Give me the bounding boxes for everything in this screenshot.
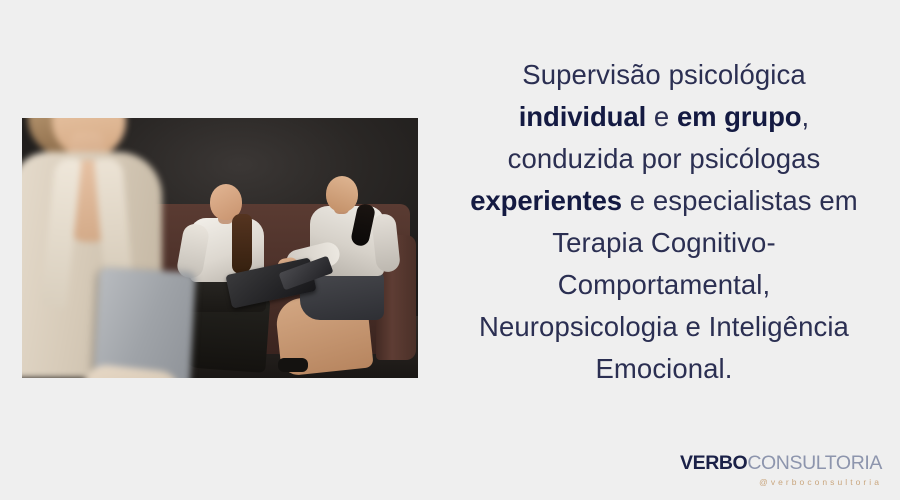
logo-word-primary: VERBO <box>680 452 747 474</box>
photo-shoe <box>278 358 308 372</box>
body-copy-line: individual e em grupo, <box>438 96 890 138</box>
photo-arm-right <box>371 213 401 273</box>
photo-backdrop <box>22 118 418 378</box>
body-copy-text: Neuropsicologia e Inteligência <box>479 311 849 342</box>
logo-wordmark: VERBOCONSULTORIA <box>680 454 882 474</box>
photo-laptop <box>88 268 195 378</box>
body-copy-line: conduzida por psicólogas <box>438 138 890 180</box>
body-copy-line: Terapia Cognitivo- <box>438 222 890 264</box>
body-copy-text: e <box>646 101 677 132</box>
body-copy-text: Comportamental, <box>558 269 770 300</box>
body-copy-text: conduzida por psicólogas <box>508 143 821 174</box>
body-copy-text: Emocional. <box>595 353 732 384</box>
hero-photo <box>22 118 418 378</box>
body-copy-line: Supervisão psicológica <box>438 54 890 96</box>
body-copy-text: , <box>801 101 809 132</box>
body-copy-text: Terapia Cognitivo- <box>552 227 775 258</box>
logo-word-secondary: CONSULTORIA <box>747 452 882 474</box>
brand-logo[interactable]: VERBOCONSULTORIA @verboconsultoria <box>680 454 882 486</box>
photo-hair-strand <box>232 214 252 274</box>
slide-canvas: Supervisão psicológicaindividual e em gr… <box>0 0 900 500</box>
body-copy-text: Supervisão psicológica <box>522 59 805 90</box>
body-copy-line: experientes e especialistas em <box>438 180 890 222</box>
photo-head <box>326 176 358 212</box>
body-copy-emphasis: individual <box>519 101 646 132</box>
logo-social-handle: @verboconsultoria <box>680 478 882 487</box>
body-copy-text: e especialistas em <box>622 185 858 216</box>
body-copy: Supervisão psicológicaindividual e em gr… <box>438 54 890 390</box>
body-copy-line: Neuropsicologia e Inteligência <box>438 306 890 348</box>
body-copy-emphasis: em grupo <box>677 101 801 132</box>
body-copy-line: Emocional. <box>438 348 890 390</box>
photo-foreground-woman <box>22 118 170 378</box>
body-copy-line: Comportamental, <box>438 264 890 306</box>
body-copy-emphasis: experientes <box>470 185 622 216</box>
